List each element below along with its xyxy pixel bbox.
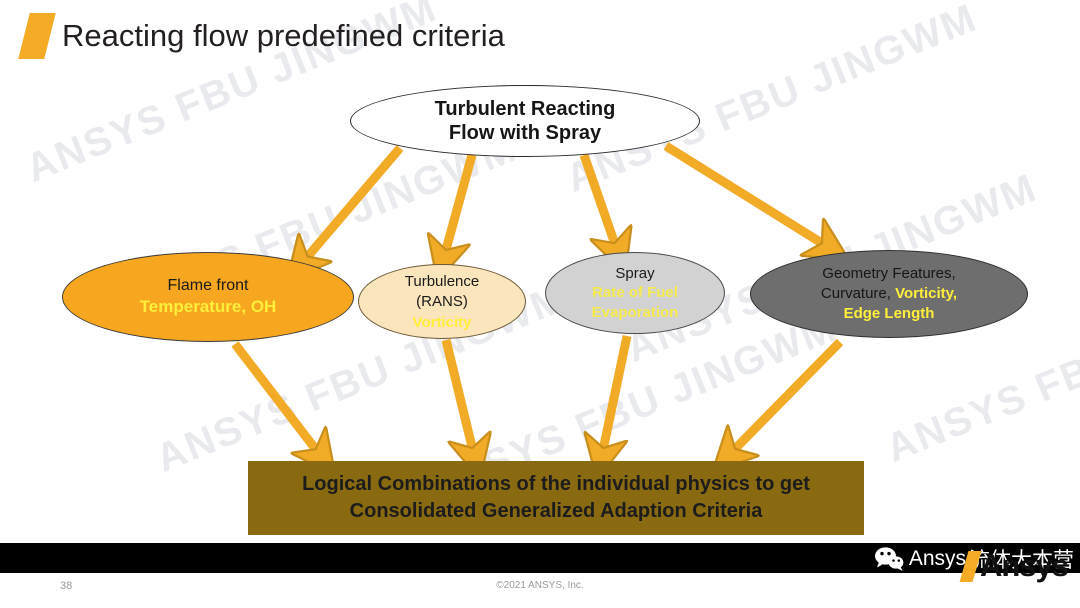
node-flame-highlight: Temperature, OH bbox=[140, 296, 277, 319]
node-result-criteria[interactable]: Logical Combinations of the individual p… bbox=[248, 461, 864, 535]
node-turbulence-highlight: Vorticity bbox=[413, 313, 472, 333]
node-geometry-highlight-line2: Vorticity, bbox=[895, 285, 957, 302]
node-flame-label: Flame front bbox=[168, 275, 249, 297]
node-spray-label: Spray bbox=[615, 264, 654, 283]
node-turbulence-line2: (RANS) bbox=[416, 292, 468, 312]
ansys-logo: Ansys bbox=[964, 548, 1068, 584]
node-result-line1: Logical Combinations of the individual p… bbox=[302, 471, 810, 498]
node-geometry-features[interactable]: Geometry Features, Curvature, Vorticity,… bbox=[750, 250, 1028, 338]
node-result-line2: Consolidated Generalized Adaption Criter… bbox=[350, 498, 763, 525]
wechat-icon bbox=[874, 546, 904, 572]
node-turbulent-reacting-flow[interactable]: Turbulent Reacting Flow with Spray bbox=[350, 85, 700, 157]
copyright-text: ©2021 ANSYS, Inc. bbox=[0, 580, 1080, 591]
ansys-logo-word: Ansys bbox=[980, 548, 1068, 584]
node-spray-highlight-line2: Evaporation bbox=[592, 303, 679, 322]
node-geometry-highlight-line3: Edge Length bbox=[844, 304, 935, 324]
node-spray-highlight-line1: Rate of Fuel bbox=[592, 283, 678, 302]
title-slash-icon bbox=[18, 13, 55, 59]
node-geometry-line2: Curvature, bbox=[821, 285, 891, 302]
page-title-text: Reacting flow predefined criteria bbox=[62, 18, 505, 54]
node-turbulence[interactable]: Turbulence (RANS) Vorticity bbox=[358, 264, 526, 339]
node-geometry-line2-wrap: Curvature, Vorticity, bbox=[821, 284, 957, 304]
node-geometry-line1: Geometry Features, bbox=[822, 264, 955, 284]
slide-canvas: ANSYS FBU JINGWM ANSYS FBU JINGWM ANSYS … bbox=[0, 0, 1080, 608]
diagram-nodes: Turbulent Reacting Flow with Spray Flame… bbox=[0, 0, 1080, 608]
wechat-account-label: Ansys bbox=[909, 547, 966, 571]
node-flame-front[interactable]: Flame front Temperature, OH bbox=[62, 252, 354, 342]
page-title: Reacting flow predefined criteria bbox=[24, 10, 505, 62]
node-root-line1: Turbulent Reacting bbox=[435, 97, 616, 121]
node-spray[interactable]: Spray Rate of Fuel Evaporation bbox=[545, 252, 725, 334]
node-turbulence-line1: Turbulence bbox=[405, 272, 480, 292]
node-root-line2: Flow with Spray bbox=[449, 121, 601, 145]
